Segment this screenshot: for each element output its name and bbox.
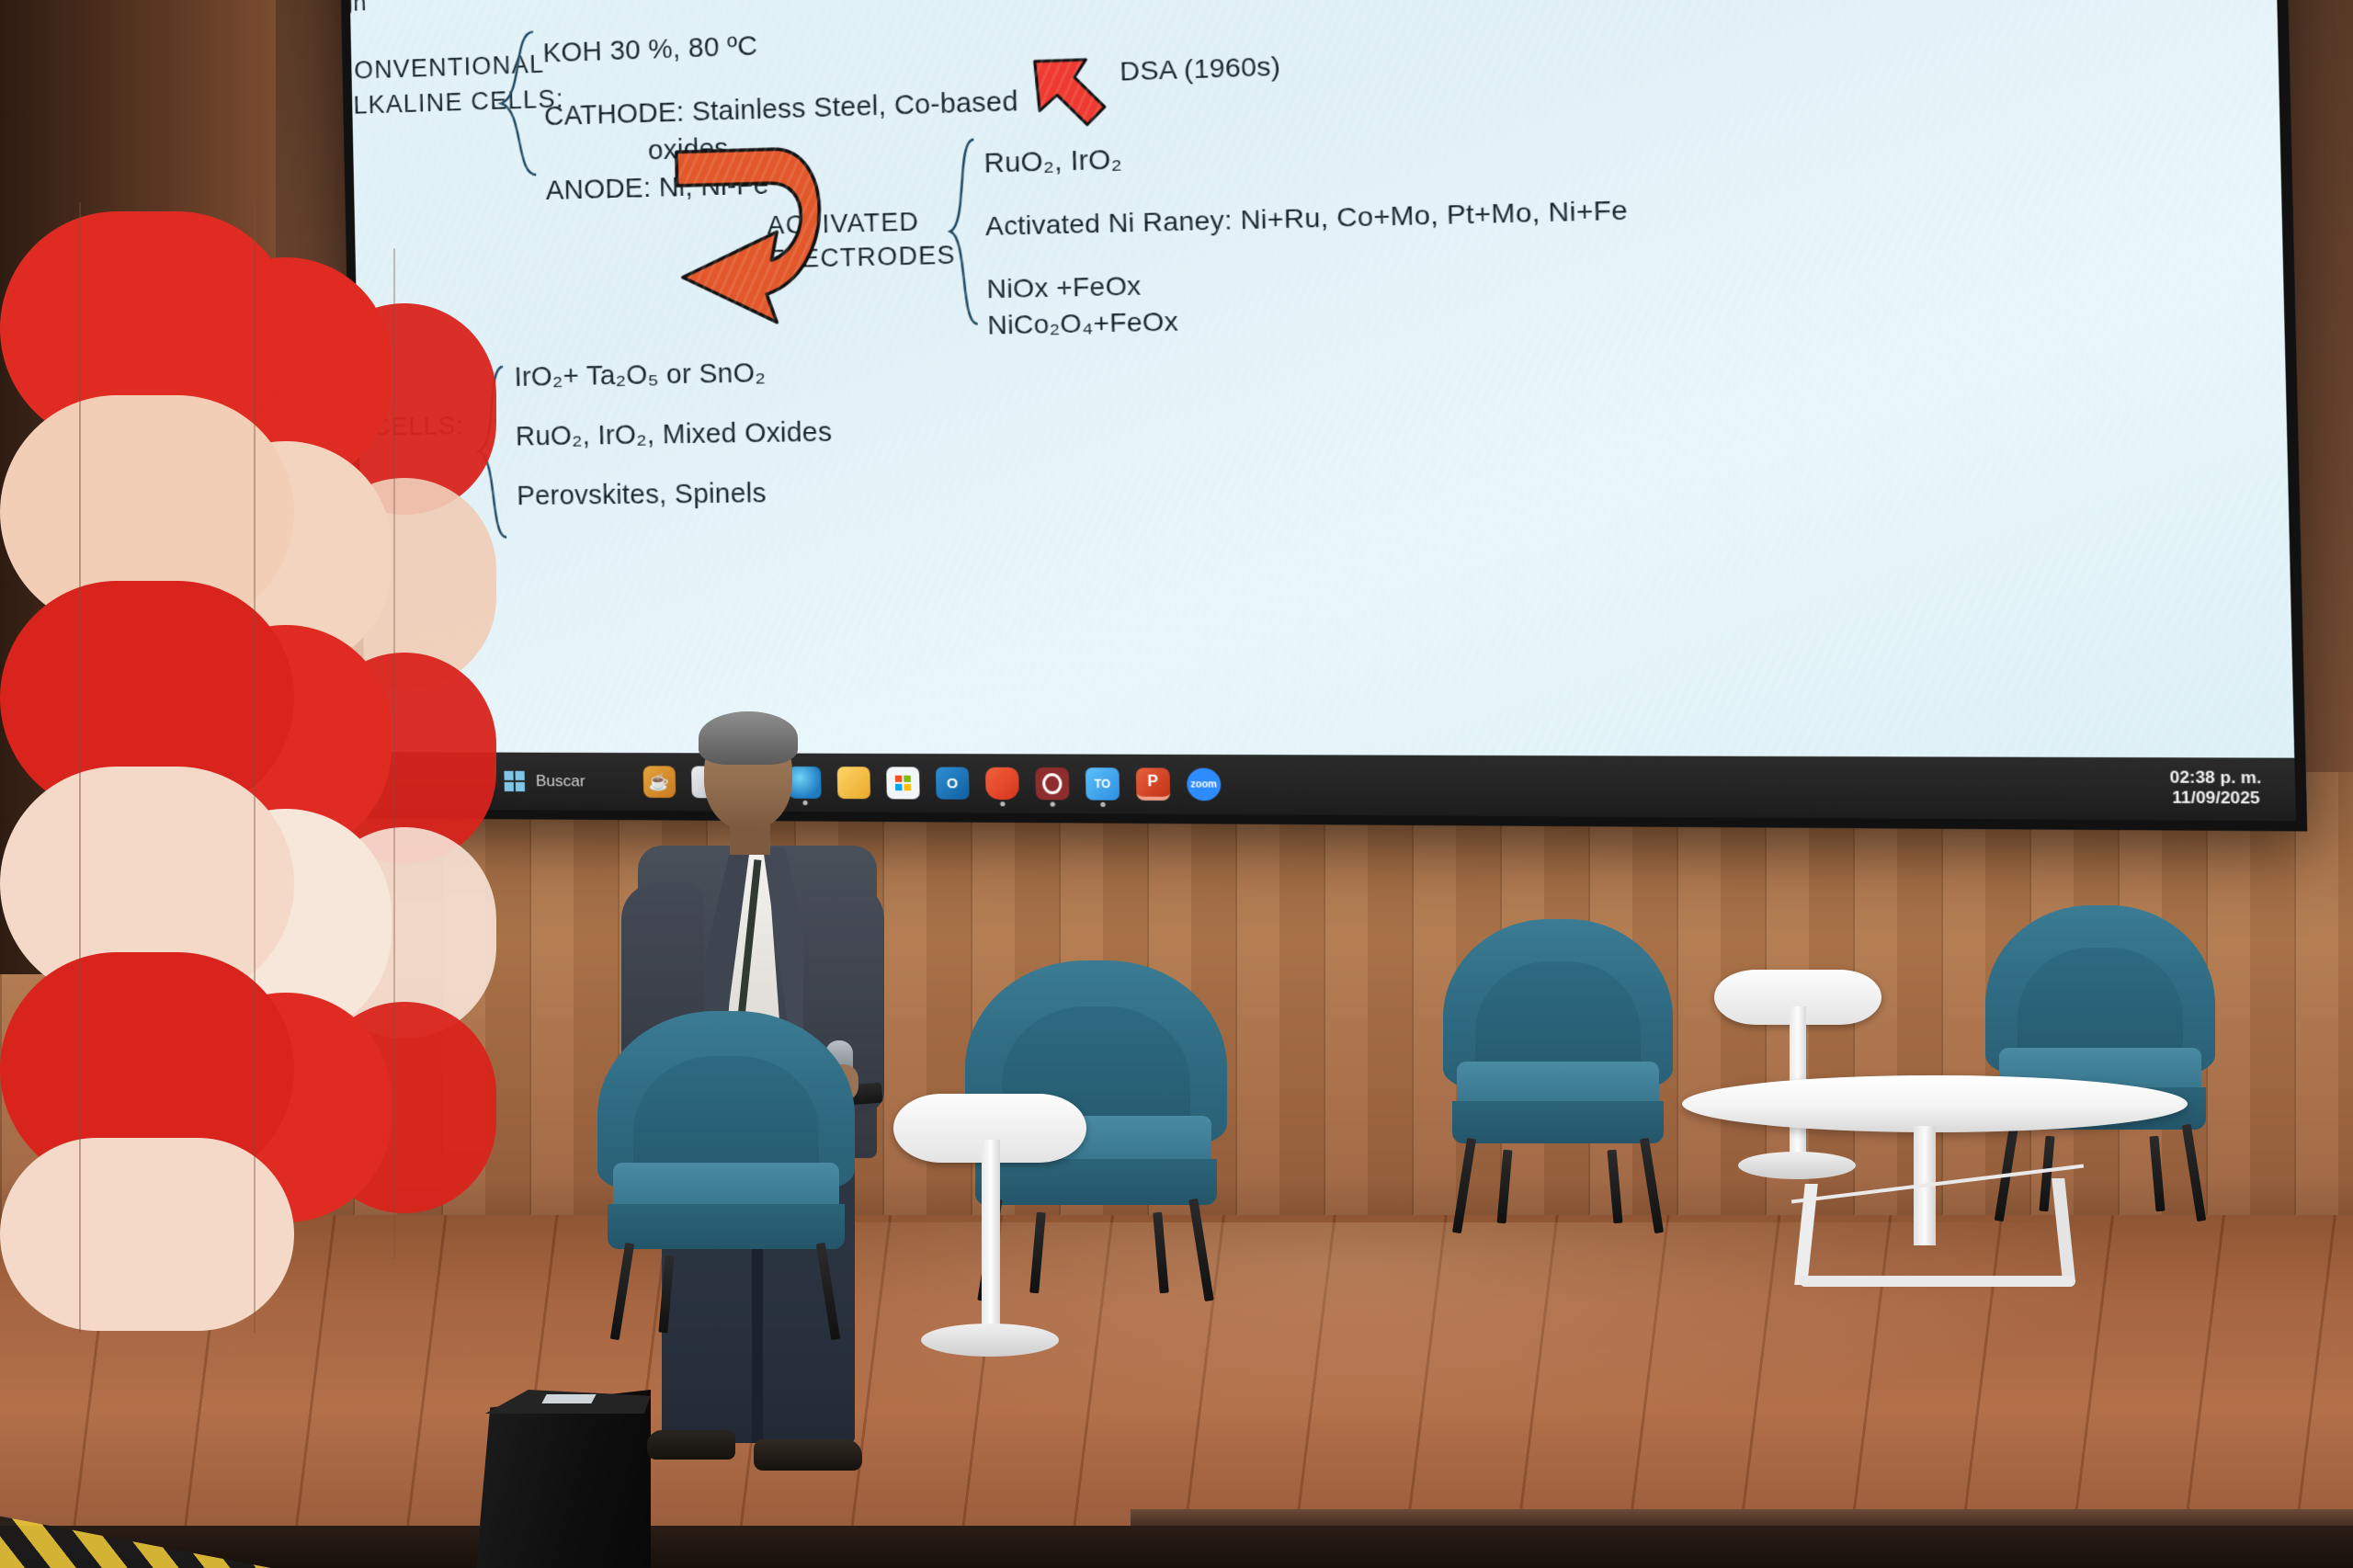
zoom-icon[interactable]: zoom	[1187, 768, 1222, 801]
side-table-left	[893, 1094, 1086, 1360]
start-search-area[interactable]: Buscar	[504, 771, 585, 792]
chair-right-center	[1443, 919, 1673, 1222]
outlook-icon[interactable]: O	[936, 767, 970, 800]
activated-item-2: NiOx +FeOx	[986, 271, 1142, 305]
conventional-item-1: CATHODE: Stainless Steel, Co-based	[544, 86, 1018, 132]
coffee-table-round	[1682, 1075, 2188, 1296]
slide-partial-heading: design	[347, 0, 367, 19]
projection-screen: design Cathode GDL Cathode CL Diaphragm …	[337, 0, 2308, 831]
aem-item-2: Perovskites, Spinels	[517, 479, 767, 512]
todo-icon[interactable]: TO	[1086, 767, 1120, 801]
red-cream-capsule-sculpture	[9, 340, 506, 1351]
red-pointer-arrow-icon	[1030, 54, 1121, 145]
aem-item-0: IrO₂+ Ta₂O₅ or SnO₂	[514, 358, 766, 393]
presenter-hair	[699, 711, 798, 765]
dsa-annotation: DSA (1960s)	[1120, 51, 1281, 87]
presenter-shoe-left	[647, 1430, 735, 1460]
brave-browser-icon[interactable]	[985, 767, 1019, 800]
activated-item-0: RuO₂, IrO₂	[983, 144, 1122, 180]
brace-conventional	[494, 30, 539, 180]
brace-activated	[945, 138, 982, 329]
activated-item-3: NiCo₂O₄+FeOx	[987, 306, 1178, 340]
chair-left-behind-speaker	[597, 1011, 855, 1333]
scene-root: design Cathode GDL Cathode CL Diaphragm …	[0, 0, 2353, 1568]
clock-date: 11/09/2025	[2170, 789, 2262, 810]
presentation-slide: design Cathode GDL Cathode CL Diaphragm …	[347, 0, 2295, 758]
stage-front-edge	[0, 1526, 2353, 1568]
windows-start-icon[interactable]	[504, 771, 525, 791]
clock-time: 02:38 p. m.	[2169, 768, 2261, 790]
search-input[interactable]: Buscar	[536, 772, 585, 790]
orange-curved-arrow-icon	[631, 132, 845, 353]
activated-item-1: Activated Ni Raney: Ni+Ru, Co+Mo, Pt+Mo,…	[985, 195, 1629, 242]
taskbar-clock[interactable]: 02:38 p. m. 11/09/2025	[2169, 768, 2262, 811]
diagram-panel-b: Cathode GDL Cathode CL Diaphragm Anode C…	[399, 0, 712, 7]
presenter-shoe-right	[754, 1439, 862, 1471]
opera-browser-icon[interactable]	[1035, 767, 1069, 801]
conventional-item-0: KOH 30 %, 80 ºC	[542, 31, 757, 70]
aem-item-1: RuO₂, IrO₂, Mixed Oxides	[516, 417, 833, 452]
powerpoint-icon[interactable]: P	[1136, 767, 1171, 801]
